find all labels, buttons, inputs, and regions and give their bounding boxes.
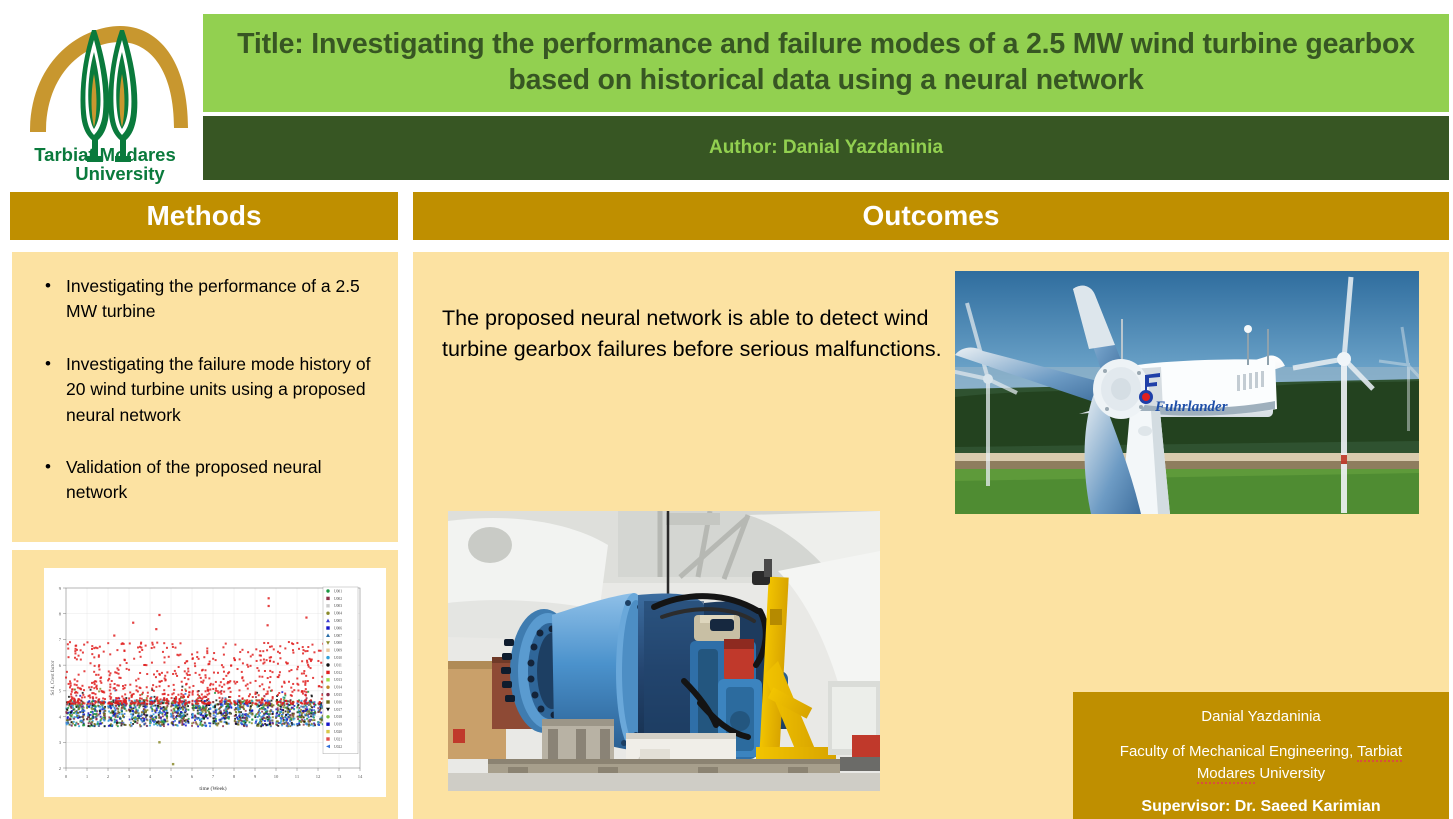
- list-item: • Validation of the proposed neural netw…: [30, 455, 380, 506]
- svg-text:U019: U019: [334, 723, 342, 727]
- svg-text:U015: U015: [334, 693, 342, 697]
- svg-text:U016: U016: [334, 700, 342, 704]
- methods-bullet-list: • Investigating the performance of a 2.5…: [12, 252, 398, 542]
- chart-legend: U001U002U003U004U005U006U007U008U009U010…: [323, 587, 358, 754]
- bullet-icon: •: [30, 352, 66, 428]
- svg-text:U001: U001: [334, 589, 342, 593]
- chart-canvas: 01234567891011121314 23456789 time (Week…: [44, 568, 386, 797]
- footer-affiliation-post: University: [1255, 765, 1325, 782]
- tarbiat-modares-logo-icon: Tarbiat Modares University: [8, 4, 203, 184]
- turbine-brand-label: Fuhrlander: [1154, 399, 1228, 415]
- list-item: • Investigating the failure mode history…: [30, 352, 380, 428]
- svg-text:U022: U022: [334, 745, 342, 749]
- page-title: Title: Investigating the performance and…: [229, 27, 1423, 99]
- svg-text:U003: U003: [334, 604, 342, 608]
- bullet-icon: •: [30, 455, 66, 506]
- chart-x-axis-label: time (Week): [199, 785, 226, 792]
- poster-root: Tarbiat Modares University Title: Invest…: [0, 0, 1453, 819]
- svg-text:U007: U007: [334, 634, 342, 638]
- section-header-methods: Methods: [10, 192, 398, 240]
- svg-text:U009: U009: [334, 649, 342, 653]
- svg-text:U002: U002: [334, 597, 342, 601]
- author-name: Author: Danial Yazdaninia: [709, 137, 943, 159]
- methods-item-text: Investigating the failure mode history o…: [66, 352, 380, 428]
- svg-text:U010: U010: [334, 656, 342, 660]
- logo-line2: University: [75, 163, 165, 184]
- footer-info-box: Danial Yazdaninia Faculty of Mechanical …: [1073, 692, 1449, 819]
- wind-turbine-photo: Fuhrlander: [955, 271, 1419, 514]
- svg-text:U021: U021: [334, 737, 342, 741]
- crest-factor-scatter-chart: Units=1,2,3,4,5,6,7,8,9,10 From: 2019-7-…: [44, 568, 386, 797]
- chart-y-axis-label: Sd 4, Crest factor: [51, 660, 56, 695]
- list-item: • Investigating the performance of a 2.5…: [30, 274, 380, 325]
- footer-supervisor: Supervisor: Dr. Saeed Karimian: [1089, 798, 1433, 816]
- svg-text:U004: U004: [334, 612, 342, 616]
- svg-text:U008: U008: [334, 641, 342, 645]
- svg-text:U020: U020: [334, 730, 342, 734]
- footer-affiliation-word2: Modares: [1197, 765, 1255, 784]
- section-header-outcomes-label: Outcomes: [863, 200, 1000, 232]
- svg-text:U012: U012: [334, 671, 342, 675]
- methods-item-text: Validation of the proposed neural networ…: [66, 455, 380, 506]
- svg-text:14: 14: [358, 774, 363, 779]
- svg-text:U005: U005: [334, 619, 342, 623]
- wind-turbine-illustration: Fuhrlander: [955, 271, 1419, 514]
- gearbox-illustration: [448, 511, 880, 791]
- poster-title-bar: Title: Investigating the performance and…: [203, 14, 1449, 112]
- svg-text:13: 13: [337, 774, 342, 779]
- svg-text:U011: U011: [334, 663, 342, 667]
- footer-author-name: Danial Yazdaninia: [1089, 706, 1433, 727]
- methods-item-text: Investigating the performance of a 2.5 M…: [66, 274, 380, 325]
- footer-affiliation-word1: Tarbiat: [1357, 743, 1402, 762]
- footer-affiliation-pre: Faculty of Mechanical Engineering,: [1120, 743, 1357, 760]
- poster-author-bar: Author: Danial Yazdaninia: [203, 116, 1449, 180]
- svg-text:12: 12: [316, 774, 321, 779]
- section-header-methods-label: Methods: [146, 200, 261, 232]
- gearbox-photo: [448, 511, 880, 791]
- outcomes-statement: The proposed neural network is able to d…: [442, 303, 942, 365]
- svg-text:10: 10: [274, 774, 279, 779]
- section-header-outcomes: Outcomes: [413, 192, 1449, 240]
- svg-text:U018: U018: [334, 715, 342, 719]
- svg-text:U014: U014: [334, 686, 342, 690]
- university-logo: Tarbiat Modares University: [8, 4, 203, 184]
- logo-line1: Tarbiat Modares: [34, 144, 176, 165]
- footer-affiliation: Faculty of Mechanical Engineering, Tarbi…: [1089, 741, 1433, 784]
- svg-text:11: 11: [295, 774, 300, 779]
- svg-text:U006: U006: [334, 626, 342, 630]
- bullet-icon: •: [30, 274, 66, 325]
- svg-text:U013: U013: [334, 678, 342, 682]
- svg-text:U017: U017: [334, 708, 342, 712]
